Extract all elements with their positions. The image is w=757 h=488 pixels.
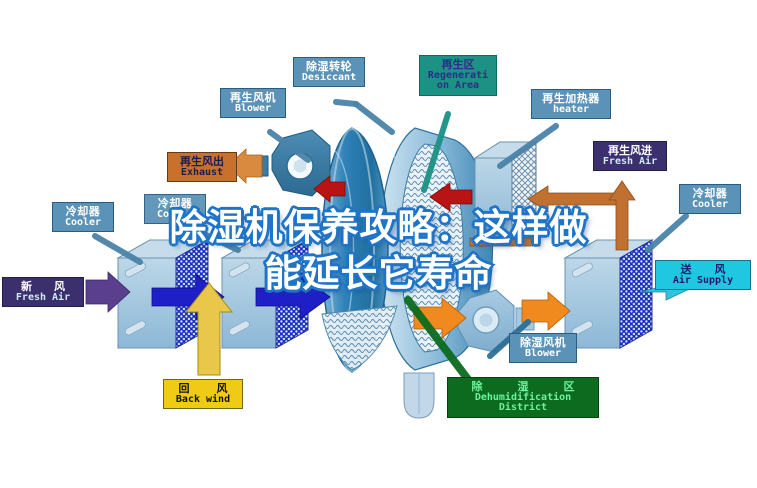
label-cooler-right-cn: 冷却器 (684, 188, 736, 200)
label-regeneration-area-cn: 再生区 (424, 59, 492, 71)
label-desiccant-wheel: 除湿转轮 Desiccant (293, 57, 365, 87)
watermark-text: xt (378, 323, 389, 333)
label-regeneration-exhaust: 再生风出 Exhaust (167, 152, 237, 182)
cooler-block-right (565, 240, 652, 348)
heater-block (470, 142, 540, 246)
label-back-wind-cn: 回 风 (168, 383, 238, 395)
label-regeneration-blower-en: Blower (225, 104, 281, 115)
label-air-supply-en: Air Supply (660, 276, 746, 287)
drain-duct (404, 373, 434, 418)
label-regeneration-fresh-air-in: 再生风进 Fresh Air (593, 141, 667, 171)
label-fresh-air-in: 新 风 Fresh Air (2, 277, 84, 307)
label-regeneration-blower-cn: 再生风机 (225, 92, 281, 104)
label-dehumidify-blower-en: Blower (514, 349, 572, 360)
label-regeneration-heater: 再生加热器 heater (531, 89, 611, 119)
label-cooler-mid-cn: 冷却器 (149, 198, 201, 210)
label-regeneration-area-en-2: on Area (424, 81, 492, 92)
label-cooler-right: 冷却器 Cooler (679, 184, 741, 214)
label-cooler-right-en: Cooler (684, 200, 736, 211)
label-fresh-air-in-en: Fresh Air (7, 293, 79, 304)
label-dehumidification-district-cn: 除 湿 区 (452, 381, 594, 393)
label-dehumidification-district: 除 湿 区 Dehumidification District (447, 377, 599, 418)
label-air-supply-cn: 送 风 (660, 264, 746, 276)
label-regeneration-area: 再生区 Regenerati on Area (419, 55, 497, 96)
label-desiccant-wheel-cn: 除湿转轮 (298, 61, 360, 73)
label-dehumidification-district-en-2: District (452, 403, 594, 414)
diagram-canvas: xt 除湿转轮 Desiccant 再生风机 Blower 再生风出 Exhau… (0, 0, 757, 488)
label-regeneration-fresh-air-in-cn: 再生风进 (598, 145, 662, 157)
label-regeneration-heater-en: heater (536, 105, 606, 116)
label-regeneration-exhaust-cn: 再生风出 (172, 156, 232, 168)
label-regeneration-blower: 再生风机 Blower (220, 88, 286, 118)
label-fresh-air-in-cn: 新 风 (7, 281, 79, 293)
fresh-air-to-heater (528, 186, 622, 212)
label-back-wind-en: Back wind (168, 395, 238, 406)
label-cooler-left-en: Cooler (57, 218, 109, 229)
label-regeneration-exhaust-en: Exhaust (172, 168, 232, 179)
label-cooler-mid: 冷却器 Cooler (144, 194, 206, 224)
label-regeneration-heater-cn: 再生加热器 (536, 93, 606, 105)
label-back-wind: 回 风 Back wind (163, 379, 243, 409)
dehumidifier-schematic: xt (0, 0, 757, 488)
label-air-supply: 送 风 Air Supply (655, 260, 751, 290)
label-dehumidify-blower: 除湿风机 Blower (509, 333, 577, 363)
label-cooler-mid-en: Cooler (149, 210, 201, 221)
label-regeneration-fresh-air-in-en: Fresh Air (598, 157, 662, 168)
label-cooler-left-cn: 冷却器 (57, 206, 109, 218)
label-desiccant-wheel-en: Desiccant (298, 73, 360, 84)
label-dehumidify-blower-cn: 除湿风机 (514, 337, 572, 349)
label-cooler-left: 冷却器 Cooler (52, 202, 114, 232)
